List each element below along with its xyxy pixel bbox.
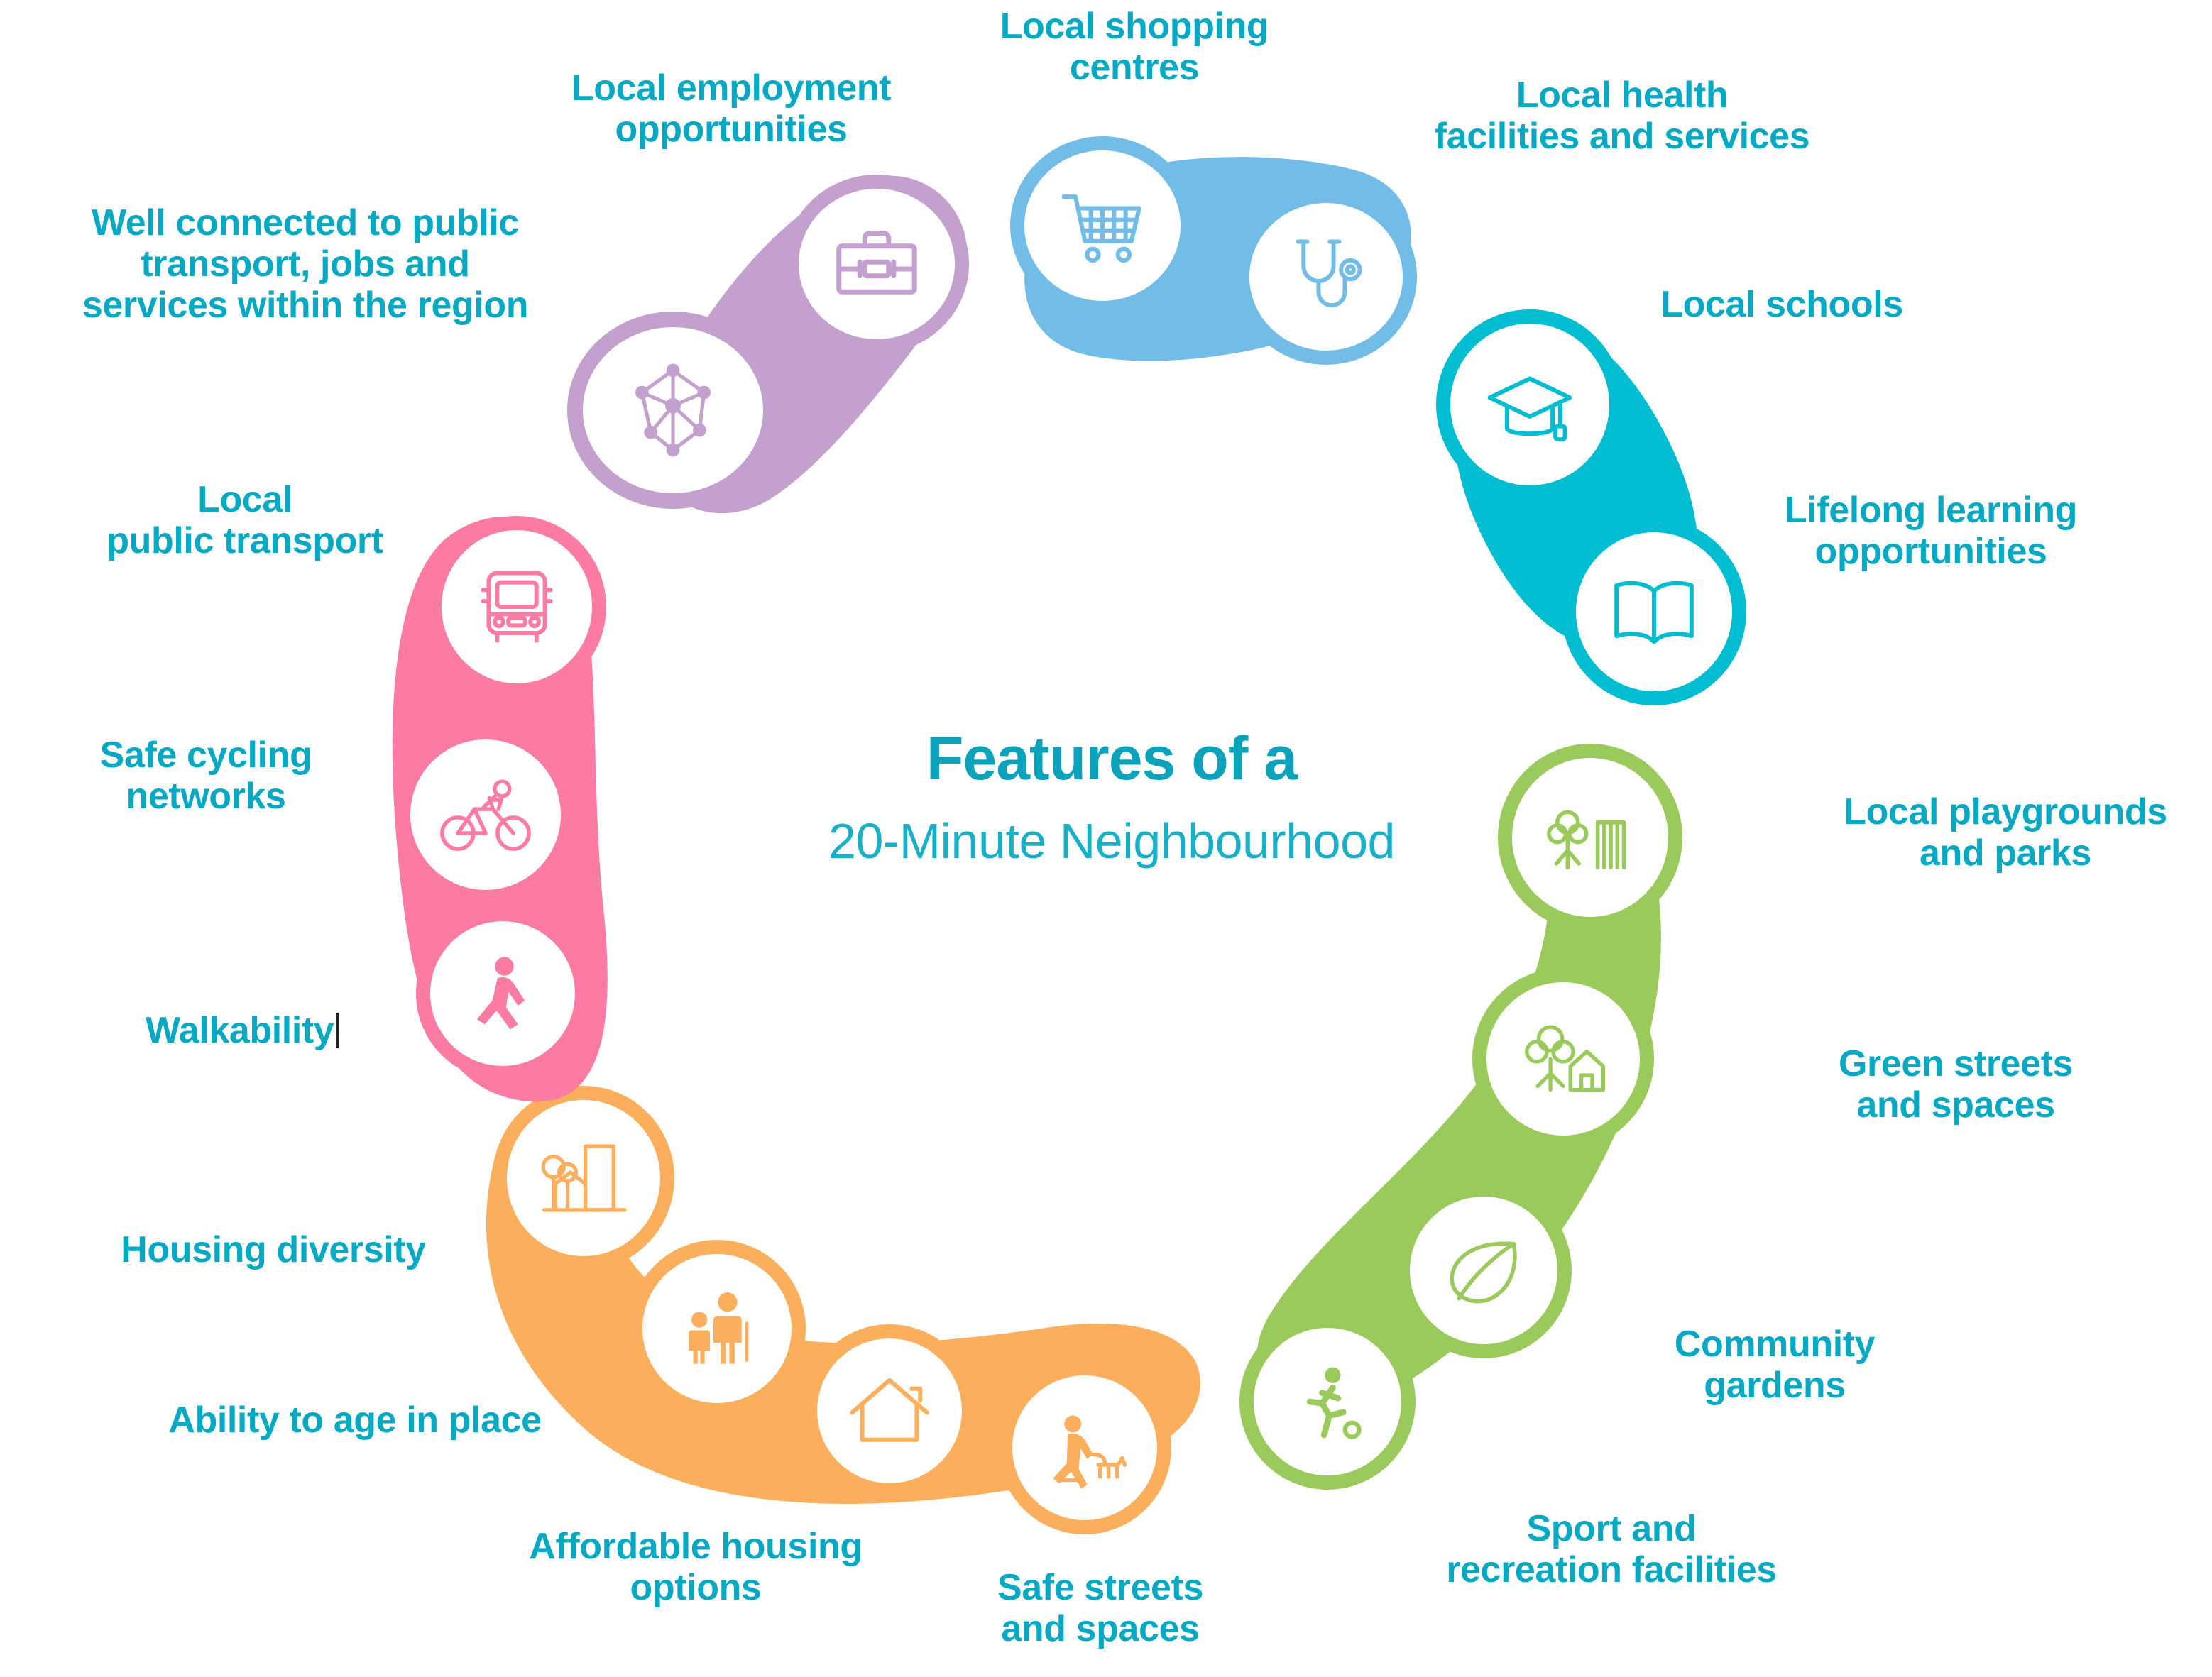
segment-transport[interactable] xyxy=(393,517,608,1101)
label-local-public-transport: Local public transport xyxy=(25,479,465,561)
label-sport-recreation: Sport and recreation facilities xyxy=(1349,1508,1874,1590)
text-cursor xyxy=(336,1013,339,1048)
label-local-shopping-centres: Local shopping centres xyxy=(914,6,1354,88)
label-safe-cycling: Safe cycling networks xyxy=(21,735,390,817)
label-local-schools: Local schools xyxy=(1562,284,2002,325)
label-well-connected: Well connected to public transport, jobs… xyxy=(11,202,600,326)
page-title: Features of a 20-Minute Neighbourhood xyxy=(686,724,1538,869)
label-age-in-place: Ability to age in place xyxy=(106,1400,603,1441)
title-line-1: Features of a xyxy=(686,724,1538,794)
label-green-streets: Green streets and spaces xyxy=(1750,1043,2162,1126)
label-community-gardens: Community gardens xyxy=(1576,1324,1973,1406)
segment-employment[interactable] xyxy=(575,176,967,514)
label-safe-streets: Safe streets and spaces xyxy=(916,1567,1285,1649)
label-housing-diversity: Housing diversity xyxy=(39,1229,508,1270)
label-local-playgrounds: Local playgrounds and parks xyxy=(1789,791,2212,874)
label-lifelong-learning: Lifelong learning opportunities xyxy=(1661,490,2201,572)
label-local-health: Local health facilities and services xyxy=(1352,75,1892,157)
infographic-canvas: Local shopping centres Local employment … xyxy=(0,0,2212,1677)
label-local-employment: Local employment opportunities xyxy=(504,67,958,150)
segment-housing[interactable] xyxy=(486,1093,1200,1527)
housing-mix-icon xyxy=(543,1146,625,1210)
label-walkability: Walkability xyxy=(146,1010,339,1051)
title-line-2: 20-Minute Neighbourhood xyxy=(686,813,1538,869)
segment-shopping-health[interactable] xyxy=(1017,143,1411,361)
label-affordable-housing: Affordable housing options xyxy=(454,1526,937,1608)
